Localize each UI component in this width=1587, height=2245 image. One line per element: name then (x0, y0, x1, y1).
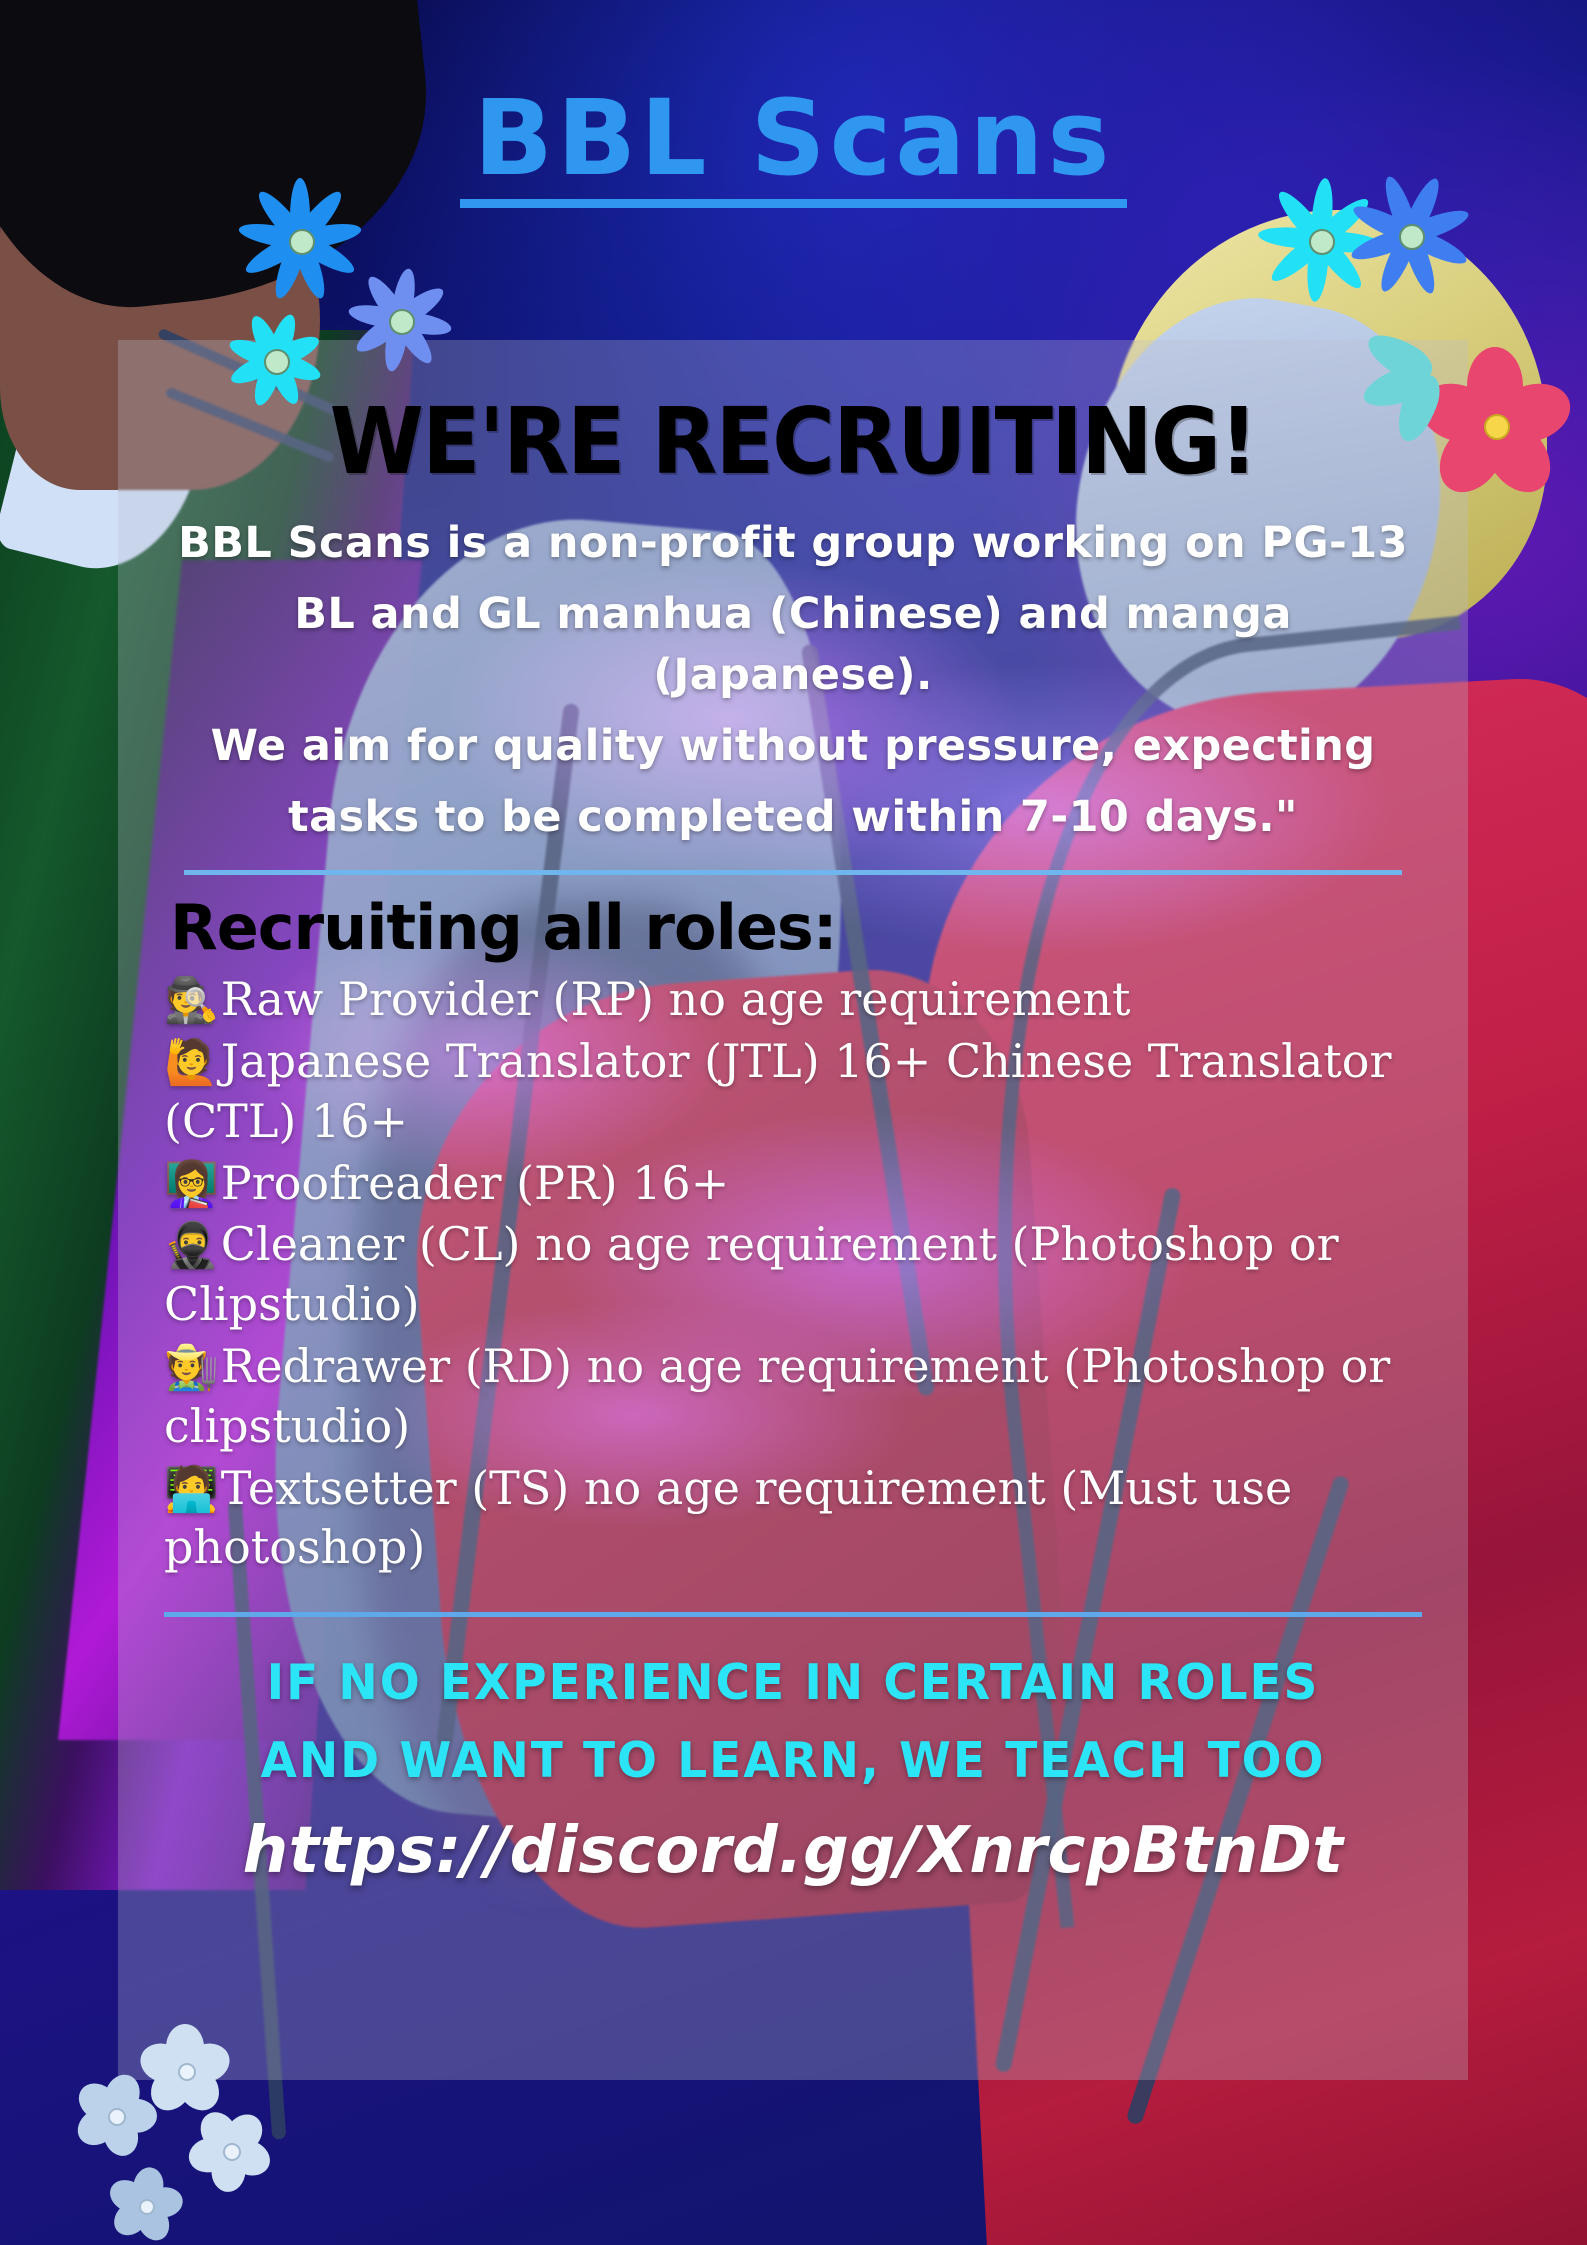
teacher-emoji: 👩‍🏫 (164, 1159, 219, 1210)
intro-paragraph: BBL Scans is a non-profit group working … (158, 513, 1428, 848)
role-item-label: Japanese Translator (JTL) 16+ Chinese Tr… (164, 1034, 1391, 1148)
divider-top (184, 870, 1402, 875)
intro-line: BBL Scans is a non-profit group working … (172, 513, 1414, 574)
intro-line: tasks to be completed within 7-10 days." (172, 787, 1414, 848)
cta-line: IF NO EXPERIENCE IN CERTAIN ROLES (183, 1647, 1402, 1719)
ninja-emoji: 🥷 (164, 1220, 219, 1271)
roles-list: 🕵️Raw Provider (RP) no age requirement 🙋… (158, 970, 1428, 1578)
farmer-emoji: 🧑‍🌾 (164, 1342, 219, 1393)
role-item-translator: 🙋Japanese Translator (JTL) 16+ Chinese T… (164, 1032, 1428, 1152)
divider-bottom (164, 1612, 1422, 1617)
intro-line: BL and GL manhua (Chinese) and manga (Ja… (172, 584, 1414, 706)
role-item-textsetter: 🧑‍💻Textsetter (TS) no age requirement (M… (164, 1459, 1428, 1579)
roles-heading: Recruiting all roles: (170, 891, 1428, 964)
detective-emoji: 🕵️ (164, 975, 219, 1026)
role-item-label: Textsetter (TS) no age requirement (Must… (164, 1461, 1292, 1575)
intro-line: We aim for quality without pressure, exp… (172, 716, 1414, 777)
headline: WE'RE RECRUITING! (202, 388, 1383, 495)
role-item-label: Raw Provider (RP) no age requirement (221, 972, 1131, 1026)
poster-content: WE'RE RECRUITING! BBL Scans is a non-pro… (118, 340, 1468, 1888)
poster-title: BBL Scans (0, 84, 1587, 208)
blossom-decoration (95, 2155, 195, 2245)
role-item-cleaner: 🥷Cleaner (CL) no age requirement (Photos… (164, 1215, 1428, 1335)
blossom-decoration (60, 2060, 170, 2170)
role-item-raw-provider: 🕵️Raw Provider (RP) no age requirement (164, 970, 1428, 1030)
technologist-emoji: 🧑‍💻 (164, 1464, 219, 1515)
discord-invite-link[interactable]: https://discord.gg/XnrcpBtnDt (158, 1814, 1428, 1888)
role-item-redrawer: 🧑‍🌾Redrawer (RD) no age requirement (Pho… (164, 1337, 1428, 1457)
role-item-label: Proofreader (PR) 16+ (221, 1156, 729, 1210)
person-raising-hand-emoji: 🙋 (164, 1037, 219, 1088)
role-item-label: Cleaner (CL) no age requirement (Photosh… (164, 1217, 1339, 1331)
recruitment-poster: BBL Scans WE'RE RECRUITING! BBL Scans is… (0, 0, 1587, 2245)
poster-title-text: BBL Scans (460, 84, 1128, 208)
role-item-proofreader: 👩‍🏫Proofreader (PR) 16+ (164, 1154, 1428, 1214)
role-item-label: Redrawer (RD) no age requirement (Photos… (164, 1339, 1390, 1453)
cta-line: AND WANT TO LEARN, WE TEACH TOO (183, 1725, 1402, 1797)
